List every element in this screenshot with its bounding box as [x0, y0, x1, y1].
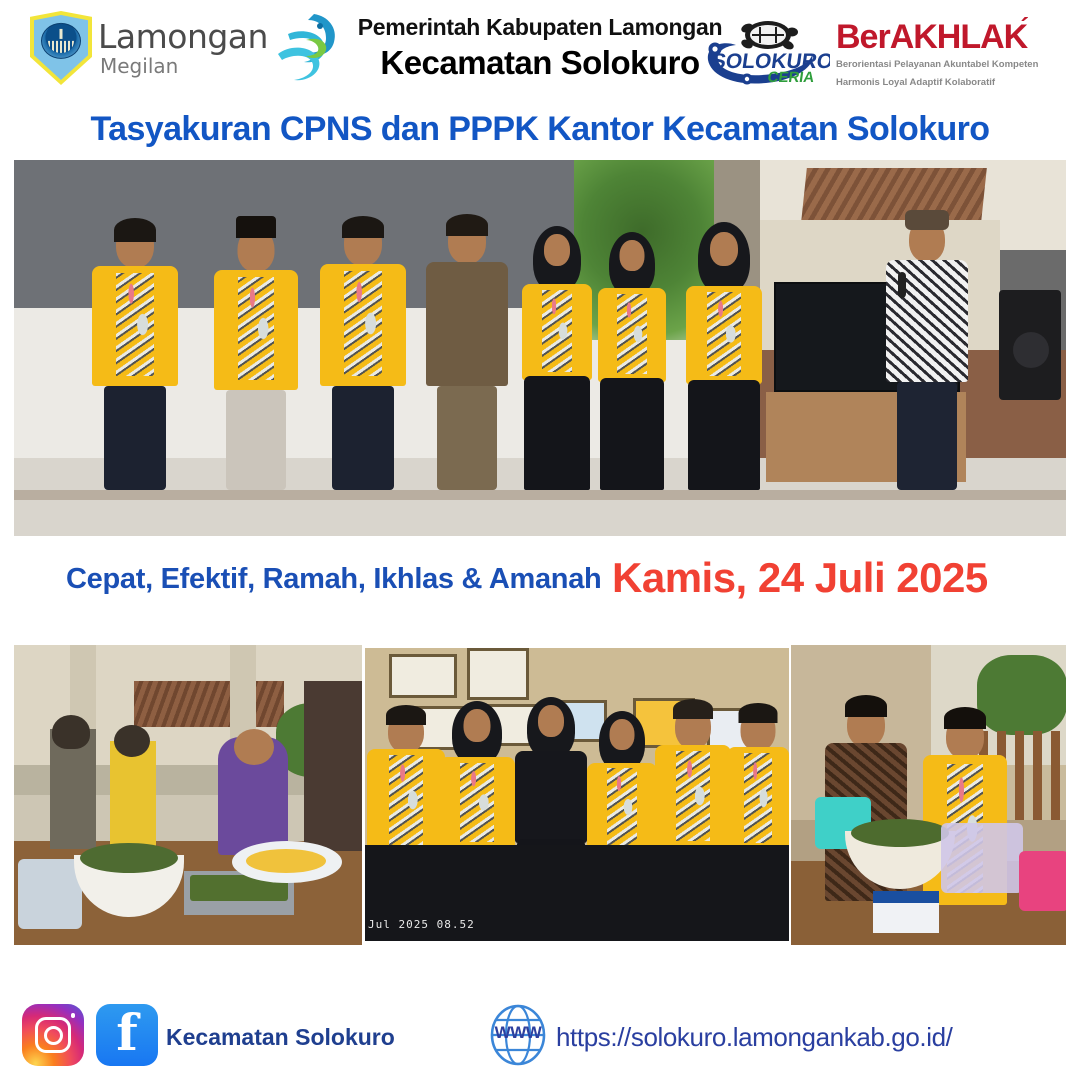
berakhlak-accent: ´ [1020, 14, 1028, 40]
turtle-icon [740, 21, 798, 51]
bottom-photo-1 [14, 645, 362, 945]
instagram-icon[interactable] [22, 1004, 84, 1066]
page-title: Tasyakuran CPNS dan PPPK Kantor Kecamata… [0, 110, 1080, 149]
megilan-wave-mark-icon [268, 10, 342, 86]
poster-root: Lamongan Megilan Pemerintah Kabupaten La… [0, 0, 1080, 1080]
svg-text:CERIA: CERIA [766, 69, 815, 86]
tagline-line-2-text: Harmonis Loyal Adaptif Kolaboratif [836, 77, 995, 88]
berakhlak-text: BerAKHLAK [836, 18, 1027, 56]
lamongan-regency-crest-icon [30, 11, 92, 85]
bottom-photo-2 [365, 648, 789, 941]
berakhlak-tagline-1: Berorientasi Pelayanan Akuntabel Kompete… [836, 59, 1026, 72]
brand-line-2: Megilan [100, 56, 268, 76]
poster-header: Lamongan Megilan Pemerintah Kabupaten La… [0, 0, 1080, 104]
lamongan-wordmark: Lamongan Megilan [98, 20, 268, 76]
photo-timestamp: Jul 2025 08.52 [368, 918, 475, 931]
social-handle-label: Kecamatan Solokuro [166, 1024, 395, 1051]
berakhlak-tagline-2: Harmonis Loyal Adaptif Kolaboratif [836, 77, 1026, 90]
solokuro-ceria-logo: SOLOKURO CERIA [700, 18, 830, 92]
tagline-line-1-text: Berorientasi Pelayanan Akuntabel Kompete… [836, 59, 1038, 70]
hero-photo [14, 160, 1066, 536]
event-date: Kamis, 24 Juli 2025 [612, 554, 988, 602]
facebook-icon[interactable]: f [96, 1004, 158, 1066]
globe-www-text: WWW [488, 1023, 548, 1043]
berakhlak-logo: BerAKHLAK´ Berorientasi Pelayanan Akunta… [836, 20, 1026, 90]
brand-line-1: Lamongan [98, 20, 268, 53]
berakhlak-wordmark: BerAKHLAK´ [836, 20, 1026, 54]
bottom-photo-3 [791, 645, 1066, 945]
lamongan-megilan-logo: Lamongan Megilan [30, 10, 342, 86]
motto-text: Cepat, Efektif, Ramah, Ikhlas & Amanah [66, 563, 601, 596]
website-url[interactable]: https://solokuro.lamongankab.go.id/ [556, 1022, 952, 1053]
